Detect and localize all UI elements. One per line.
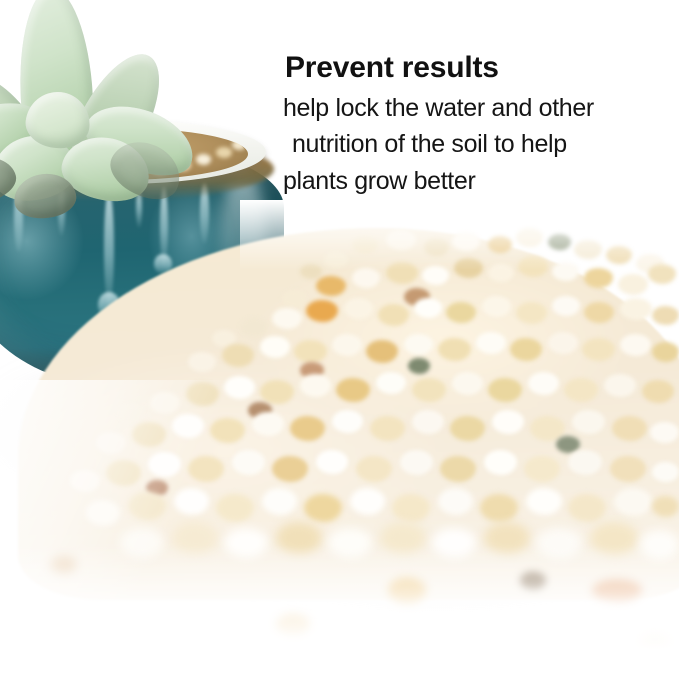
body-line-3: plants grow better [283, 163, 679, 200]
top-edge-fade [240, 200, 679, 270]
headline: Prevent results [285, 52, 679, 84]
body-line-2: nutrition of the soil to help [283, 126, 679, 163]
body-line-1: help lock the water and other [283, 90, 679, 127]
floor-fade [0, 545, 679, 679]
product-marketing-image: Prevent results help lock the water and … [0, 0, 679, 679]
marketing-copy: Prevent results help lock the water and … [283, 52, 679, 199]
